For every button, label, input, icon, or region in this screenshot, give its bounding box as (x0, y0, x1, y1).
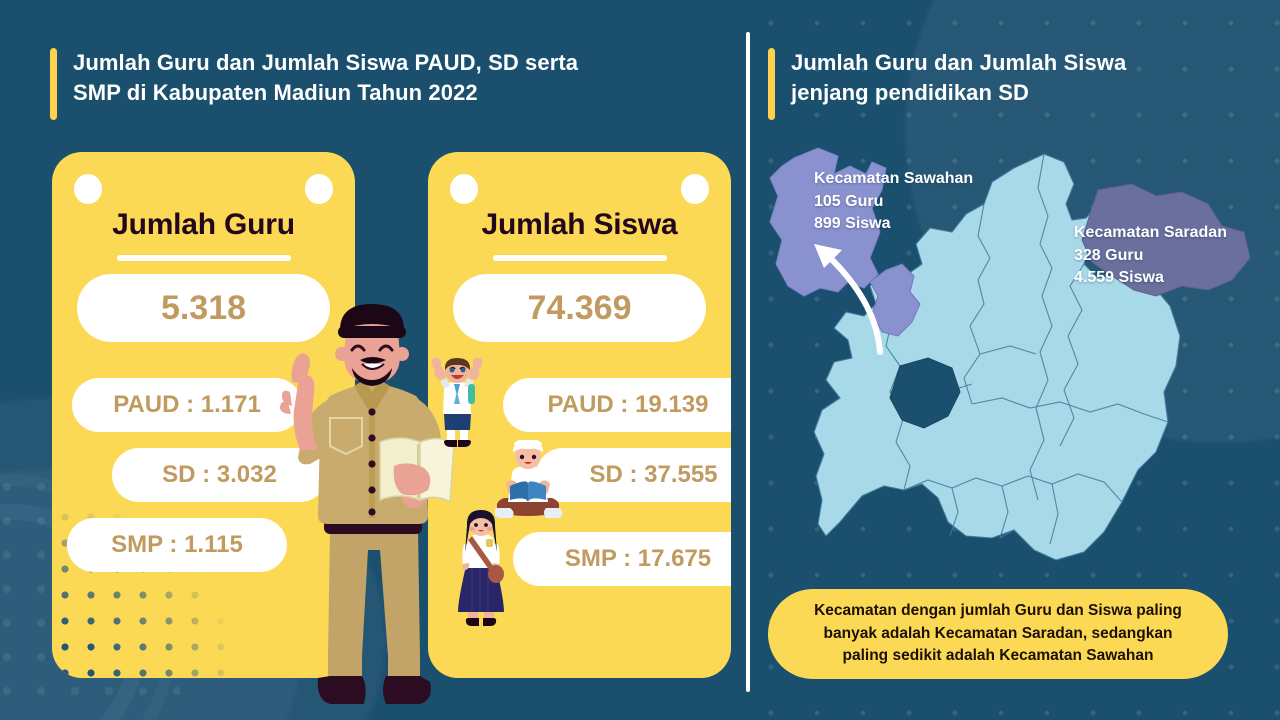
card-title-guru: Jumlah Guru (52, 208, 355, 242)
map-label-saradan: Kecamatan Saradan 328 Guru 4.559 Siswa (1074, 222, 1227, 290)
accent-bar-right (768, 48, 775, 120)
stat-card-guru: Jumlah Guru 5.318 PAUD : 1.171 SD : 3.03… (52, 152, 355, 678)
siswa-total-value: 74.369 (453, 274, 706, 342)
card-dot-pattern (52, 478, 242, 678)
siswa-smp-pill: SMP : 17.675 (513, 532, 731, 586)
kabupaten-madiun-map: Kecamatan Sawahan 105 Guru 899 Siswa Kec… (752, 140, 1272, 580)
left-panel-header: Jumlah Guru dan Jumlah Siswa PAUD, SD se… (50, 48, 740, 120)
accent-bar-left (50, 48, 57, 120)
panel-divider (746, 32, 750, 692)
guru-paud-pill: PAUD : 1.171 (72, 378, 302, 432)
infographic-canvas: Jumlah Guru dan Jumlah Siswa PAUD, SD se… (0, 0, 1280, 720)
punch-hole-right (681, 174, 709, 204)
guru-smp-pill: SMP : 1.115 (67, 518, 287, 572)
guru-total-value: 5.318 (77, 274, 330, 342)
map-summary-callout: Kecamatan dengan jumlah Guru dan Siswa p… (768, 589, 1228, 679)
card-title-underline (117, 255, 291, 261)
punch-hole-left (74, 174, 102, 204)
siswa-sd-pill: SD : 37.555 (536, 448, 731, 502)
punch-hole-right (305, 174, 333, 204)
card-title-underline (493, 255, 667, 261)
punch-hole-left (450, 174, 478, 204)
right-panel-header: Jumlah Guru dan Jumlah Siswa jenjang pen… (768, 48, 1238, 120)
left-panel-title: Jumlah Guru dan Jumlah Siswa PAUD, SD se… (73, 48, 578, 109)
guru-sd-pill: SD : 3.032 (112, 448, 327, 502)
siswa-paud-pill: PAUD : 19.139 (503, 378, 731, 432)
right-panel-title: Jumlah Guru dan Jumlah Siswa jenjang pen… (791, 48, 1126, 109)
card-title-siswa: Jumlah Siswa (428, 208, 731, 242)
stat-card-siswa: Jumlah Siswa 74.369 PAUD : 19.139 SD : 3… (428, 152, 731, 678)
map-label-sawahan: Kecamatan Sawahan 105 Guru 899 Siswa (814, 168, 973, 236)
